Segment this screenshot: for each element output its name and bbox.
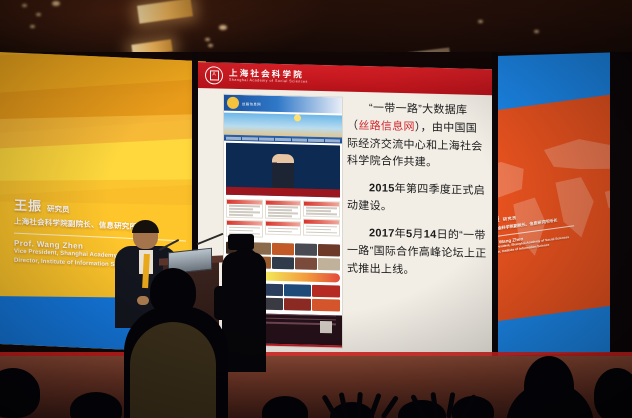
- text-line: [268, 209, 292, 211]
- site-masthead: 丝路信息网: [224, 95, 342, 114]
- nav-item[interactable]: [226, 136, 241, 139]
- right-screen-panel: 王振研究员 上海社会科学院副院长、信息研究所所长 Prof. Wang Zhen…: [496, 52, 612, 356]
- thumbnail[interactable]: [312, 284, 340, 297]
- sass-emblem-icon: A: [205, 66, 223, 84]
- paragraph-segment: 月: [412, 228, 423, 240]
- qr-code-icon: [320, 321, 332, 333]
- speaker-role-cn: 研究员: [47, 204, 70, 214]
- slide-paragraph-2: 2015年第四季度正式启动建设。: [347, 180, 487, 219]
- text-line: [229, 229, 253, 231]
- nav-item[interactable]: [292, 138, 307, 141]
- speaker-role-cn: 研究员: [503, 215, 517, 222]
- text-line: [306, 207, 337, 209]
- ceiling-spotlight-icon: [205, 38, 210, 41]
- plant-leaf: [446, 392, 455, 418]
- speaker-name-cn-text: 王振: [14, 198, 42, 214]
- light-panel-icon: [137, 0, 193, 24]
- nav-item[interactable]: [308, 138, 323, 141]
- paragraph-segment-bold: 2017: [369, 227, 395, 240]
- site-hero-video: [226, 143, 340, 198]
- ceiling-spotlight-icon: [534, 30, 539, 33]
- nav-item[interactable]: [325, 139, 340, 142]
- presenter-hand: [137, 296, 149, 305]
- text-line: [306, 225, 337, 227]
- news-block: [226, 199, 263, 219]
- ceiling-spotlight-icon: [208, 44, 213, 47]
- wall-seam: [610, 52, 632, 362]
- thumbnail[interactable]: [318, 244, 340, 257]
- plant-leaf: [339, 392, 349, 418]
- ceiling-spotlight-icon: [219, 25, 227, 30]
- thumbnail[interactable]: [272, 243, 294, 256]
- thumbnail[interactable]: [272, 257, 294, 270]
- site-column: [265, 200, 302, 241]
- hero-caption-bar: [226, 187, 340, 198]
- text-line: [306, 231, 337, 233]
- block-header: [227, 200, 262, 205]
- thumbnail[interactable]: [295, 243, 317, 256]
- text-line: [268, 227, 299, 229]
- sass-emblem-glyph: A: [210, 70, 219, 80]
- plant-leaf: [460, 394, 477, 418]
- plant-leaf: [368, 393, 382, 418]
- thumbnail[interactable]: [284, 298, 312, 311]
- wall-seam: [492, 52, 498, 362]
- text-line: [306, 213, 337, 215]
- thumbnail[interactable]: [318, 258, 340, 271]
- ceiling-spotlight-icon: [52, 1, 60, 6]
- plant-leaf: [430, 392, 439, 418]
- nav-item[interactable]: [242, 137, 257, 140]
- ceiling-spotlight-icon: [22, 4, 27, 7]
- text-line: [229, 214, 253, 216]
- slide-header: A 上海社会科学院 Shanghai Academy of Social Sci…: [197, 62, 497, 95]
- slide-header-text: 上海社会科学院 Shanghai Academy of Social Scien…: [229, 69, 308, 85]
- block-header: [266, 222, 301, 227]
- ceiling-spotlight-icon: [36, 13, 41, 16]
- thumbnail[interactable]: [295, 257, 317, 270]
- audience-silhouette-icon: [594, 368, 632, 418]
- text-line: [306, 210, 330, 212]
- nav-item[interactable]: [259, 137, 274, 140]
- text-line: [268, 212, 299, 214]
- paragraph-segment-bold: 14: [424, 228, 437, 240]
- text-line: [229, 211, 260, 213]
- site-title: 丝路信息网: [242, 101, 261, 106]
- text-line: [229, 227, 260, 229]
- stage-plants-icon: [330, 386, 400, 418]
- thumbnail[interactable]: [284, 284, 312, 297]
- text-line: [268, 206, 299, 208]
- conference-hall-photo: 王振研究员 上海社会科学院副院长、信息研究所所长 Prof. Wang Zhen…: [0, 0, 632, 418]
- block-header: [227, 221, 262, 226]
- block-header: [266, 201, 301, 206]
- slide-body-text: “一带一路”大数据库（丝路信息网），由中国国际经济交流中心和上海社会科学院合作共…: [347, 100, 487, 282]
- presenter-hair: [132, 220, 159, 233]
- slide-paragraph-1: “一带一路”大数据库（丝路信息网），由中国国际经济交流中心和上海社会科学院合作共…: [347, 100, 487, 175]
- news-block: [303, 219, 340, 236]
- nav-item[interactable]: [275, 137, 290, 140]
- text-line: [306, 228, 330, 230]
- block-header: [304, 220, 339, 225]
- sun-icon: [294, 114, 301, 121]
- org-name-en: Shanghai Academy of Social Sciences: [229, 79, 308, 85]
- thumbnail[interactable]: [312, 298, 340, 311]
- camera-gear-icon: [214, 286, 236, 320]
- site-logo-icon: [227, 97, 239, 109]
- plant-leaf: [356, 392, 363, 418]
- projection-wall: 王振研究员 上海社会科学院副院长、信息研究所所长 Prof. Wang Zhen…: [0, 52, 632, 362]
- plant-leaf: [380, 395, 399, 418]
- slide-paragraph-3: 2017年5月14日的“一带一路”国际合作高峰论坛上正式推出上线。: [347, 225, 487, 282]
- news-block: [265, 221, 302, 235]
- text-line: [229, 205, 260, 207]
- news-block: [303, 201, 340, 218]
- news-block: [265, 200, 302, 220]
- text-line: [229, 208, 253, 210]
- block-header: [304, 202, 339, 207]
- text-line: [268, 215, 292, 217]
- paragraph-segment: 年第四季度正式启动建设。: [347, 183, 485, 213]
- site-banner-image: [224, 113, 342, 138]
- paragraph-segment: 年: [395, 228, 406, 240]
- paragraph-segment-highlight: 丝路信息网: [358, 120, 415, 133]
- right-orange-band: 王振研究员 上海社会科学院副院长、信息研究所所长 Prof. Wang Zhen…: [496, 90, 612, 324]
- site-column: [303, 201, 340, 242]
- paragraph-segment-bold: 2015: [369, 182, 395, 195]
- ceiling-spotlight-icon: [30, 25, 35, 28]
- ceiling-spotlight-icon: [478, 20, 483, 23]
- audience-silhouette-icon: [130, 322, 216, 418]
- text-line: [268, 230, 292, 232]
- stage-plants-icon: [418, 386, 488, 418]
